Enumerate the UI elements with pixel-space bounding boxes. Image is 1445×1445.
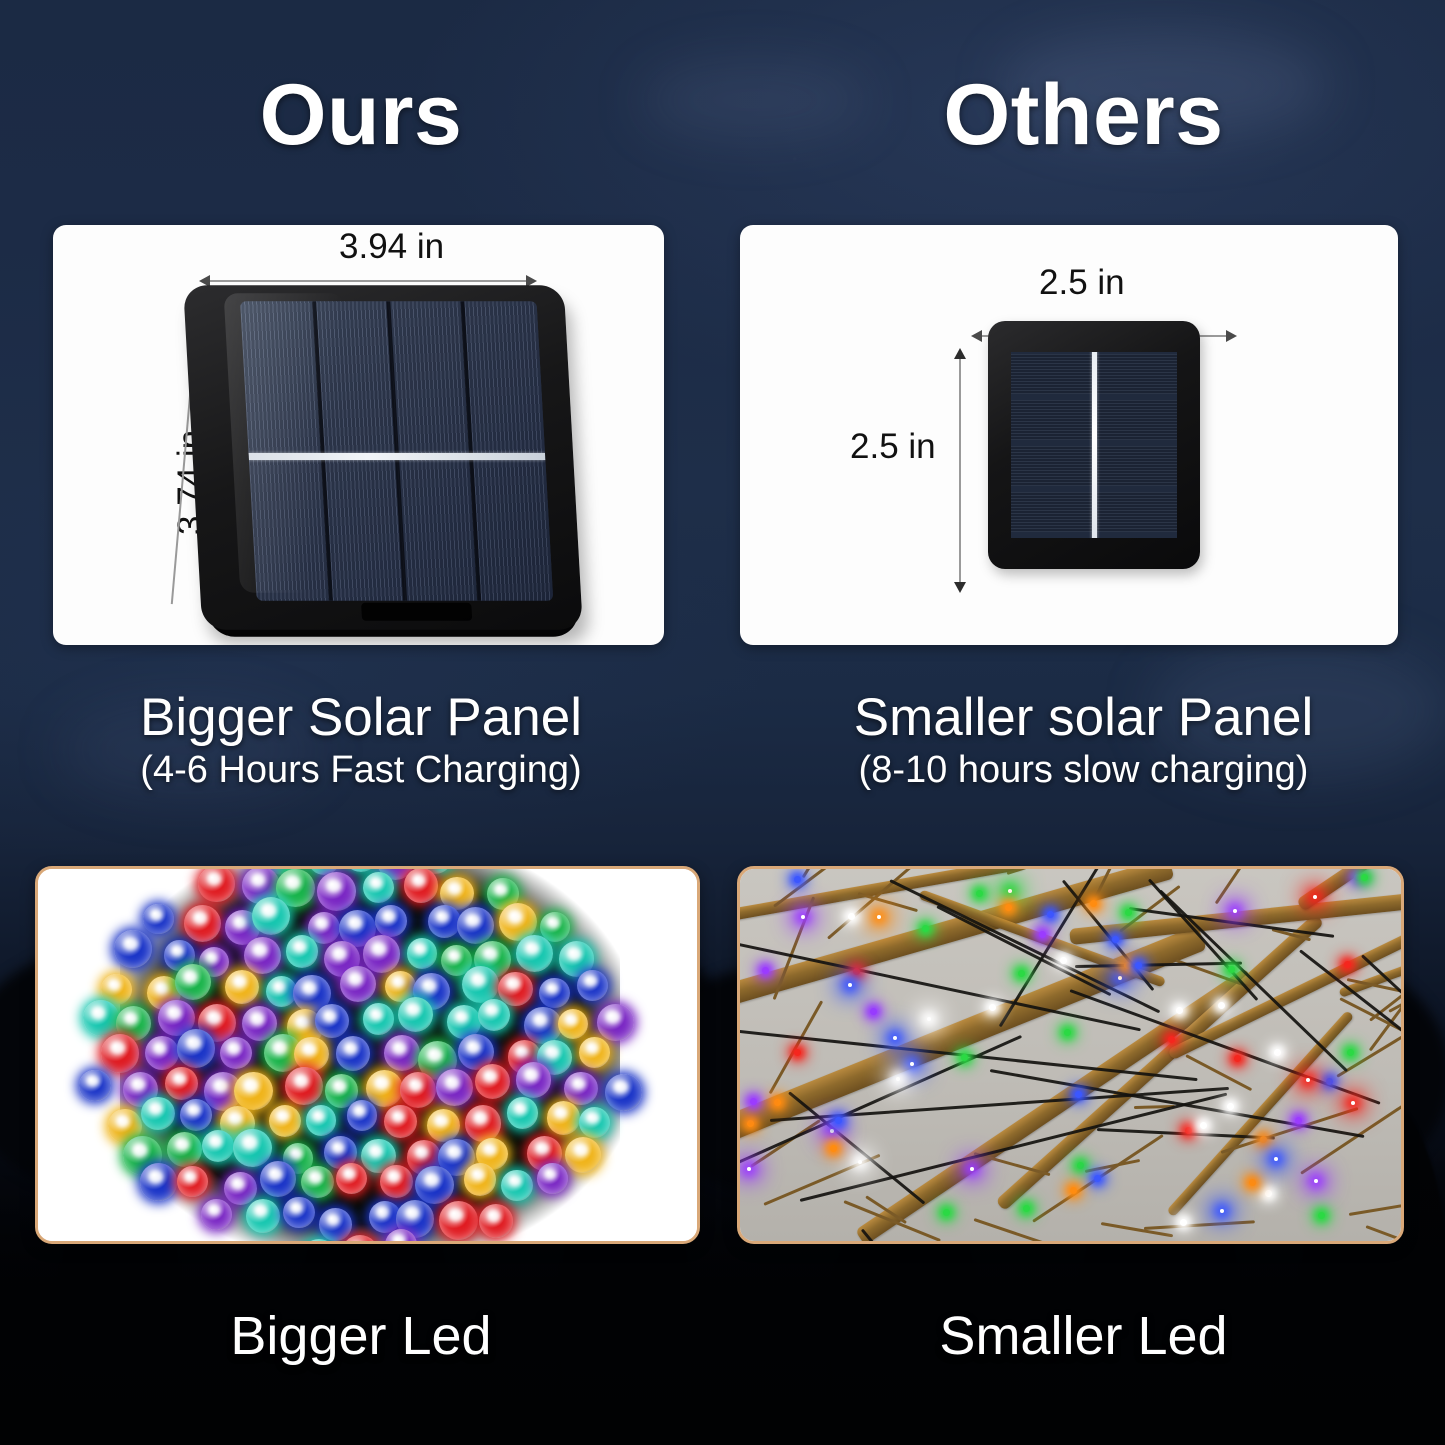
led-point-light: [747, 1167, 751, 1171]
led-bulb: [537, 1163, 568, 1194]
led-bulb: [347, 1100, 378, 1131]
led-bulb: [380, 1165, 413, 1198]
led-bulb: [366, 1070, 403, 1107]
ours-led-photo-card: [35, 866, 700, 1244]
led-bulb: [294, 1037, 329, 1072]
led-bulb: [340, 966, 376, 1002]
led-point-light: [1274, 1157, 1278, 1161]
ours-width-arrow-line: [208, 280, 528, 282]
led-point-light: [943, 1209, 950, 1216]
others-photovoltaic-cells: [1011, 352, 1177, 538]
led-point-light: [1180, 1219, 1187, 1226]
led-point-light: [1354, 874, 1361, 881]
led-point-light: [794, 1049, 801, 1056]
others-led-photo-card: [737, 866, 1404, 1244]
led-bulb: [141, 1097, 174, 1130]
others-height-arrow-bottom-tip: [954, 582, 966, 593]
led-bulb: [524, 1007, 561, 1044]
led-bulb: [579, 1037, 610, 1068]
others-led-caption: Smaller Led: [722, 1305, 1445, 1367]
led-point-light: [1168, 1036, 1175, 1043]
led-bulb: [539, 978, 569, 1008]
tree-twig: [1348, 1195, 1401, 1216]
led-point-light: [1005, 904, 1012, 911]
led-point-light: [801, 915, 805, 919]
tree-twig: [1144, 1221, 1255, 1231]
led-bulb: [464, 1163, 496, 1195]
ours-solar-panel-image: [183, 285, 583, 629]
tree-twig: [1101, 1222, 1173, 1237]
ours-solar-panel-card: 3.94 in 3.74 in: [53, 225, 664, 645]
led-point-light: [794, 876, 801, 883]
led-point-light: [989, 1004, 996, 1011]
led-point-light: [1064, 1029, 1071, 1036]
tree-twig: [1366, 1225, 1401, 1241]
others-solar-panel-image: [988, 321, 1200, 569]
others-solar-panel-card: 2.5 in 2.5 in: [740, 225, 1398, 645]
led-point-light: [910, 1062, 914, 1066]
led-point-light: [1314, 1179, 1318, 1183]
led-point-light: [1260, 1136, 1267, 1143]
tree-twig: [764, 1154, 881, 1206]
led-point-light: [1218, 1002, 1225, 1009]
led-bulb: [180, 1099, 212, 1131]
ours-width-dimension-label: 3.94 in: [339, 227, 444, 267]
led-bulb: [407, 938, 437, 968]
tree-branch: [1069, 891, 1401, 945]
led-point-light: [1023, 1205, 1030, 1212]
led-bulb: [286, 935, 319, 968]
led-point-light: [848, 913, 855, 920]
led-bulb: [79, 1070, 111, 1102]
ours-solar-panel-caption: Bigger Solar Panel (4-6 Hours Fast Charg…: [0, 690, 722, 791]
led-bulb: [177, 1166, 208, 1197]
led-bulb: [363, 1003, 395, 1035]
led-point-light: [1351, 1101, 1355, 1105]
led-point-light: [1077, 1162, 1084, 1169]
led-bulb: [336, 1163, 367, 1194]
led-bulb: [436, 1069, 473, 1106]
led-point-light: [1112, 936, 1119, 943]
led-bulb: [233, 1129, 271, 1167]
led-bulb: [306, 1105, 336, 1135]
column-title-others: Others: [722, 72, 1445, 158]
others-width-arrow-left-tip: [971, 330, 982, 342]
led-bulb: [246, 1199, 280, 1233]
led-bulb: [336, 1036, 371, 1071]
led-bulb: [224, 1172, 257, 1205]
led-bulb: [516, 935, 553, 972]
led-point-light: [1220, 1209, 1224, 1213]
led-bulb: [439, 1201, 478, 1240]
led-point-light: [1124, 962, 1131, 969]
others-caption-main: Smaller solar Panel: [722, 690, 1445, 745]
others-height-arrow-line: [959, 357, 961, 585]
led-bulb: [184, 905, 222, 943]
led-bulb: [516, 1062, 551, 1097]
led-point-light: [927, 1017, 931, 1021]
led-point-light: [1008, 889, 1012, 893]
led-bulb: [167, 1132, 202, 1167]
led-point-light: [1047, 911, 1054, 918]
led-bulb: [415, 1166, 453, 1204]
led-point-light: [877, 915, 881, 919]
led-bulb: [558, 1009, 588, 1039]
led-bulb: [140, 1163, 178, 1201]
led-bulb: [319, 1208, 352, 1241]
led-point-light: [1094, 1175, 1101, 1182]
led-point-light: [1361, 874, 1368, 881]
led-bulb: [384, 1035, 420, 1071]
led-point-light: [1039, 931, 1046, 938]
ours-led-bulb-cluster-photo: [38, 869, 697, 1241]
led-bulb: [177, 1029, 215, 1067]
led-bulb: [547, 1101, 581, 1135]
led-point-light: [1090, 900, 1097, 907]
others-height-dimension-label: 2.5 in: [850, 427, 936, 467]
led-point-light: [1185, 1127, 1192, 1134]
led-bulb: [375, 905, 407, 937]
led-bulb: [252, 897, 290, 935]
ours-caption-sub: (4-6 Hours Fast Charging): [0, 751, 722, 791]
led-bulb: [283, 1197, 315, 1229]
led-bulb: [165, 1067, 198, 1100]
others-solar-panel-caption: Smaller solar Panel (8-10 hours slow cha…: [722, 690, 1445, 791]
led-point-light: [835, 1117, 842, 1124]
led-bulb: [465, 1105, 502, 1142]
led-bulb: [404, 869, 439, 903]
led-bulb: [384, 1105, 417, 1138]
led-point-light: [1060, 957, 1067, 964]
tree-twig: [1185, 1054, 1252, 1091]
led-point-light: [1125, 909, 1132, 916]
led-point-light: [1234, 1055, 1241, 1062]
led-bulb: [202, 1130, 234, 1162]
led-point-light: [747, 1120, 754, 1127]
led-bulb: [507, 1097, 538, 1128]
others-height-arrow-top-tip: [954, 348, 966, 359]
led-bulb: [597, 1004, 634, 1041]
led-point-light: [893, 1036, 897, 1040]
led-bulb: [225, 970, 259, 1004]
led-bulb: [143, 904, 173, 934]
led-point-light: [1176, 1007, 1183, 1014]
led-point-light: [1227, 1103, 1234, 1110]
led-bulb: [398, 997, 433, 1032]
led-point-light: [848, 983, 852, 987]
ours-caption-main: Bigger Solar Panel: [0, 690, 722, 745]
led-bulb: [269, 1105, 301, 1137]
others-busbar: [1092, 352, 1097, 538]
led-point-light: [1070, 1187, 1077, 1194]
others-width-arrow-right-tip: [1226, 330, 1237, 342]
ours-led-caption: Bigger Led: [0, 1305, 722, 1367]
led-bulb: [234, 1072, 272, 1110]
others-width-dimension-label: 2.5 in: [1039, 263, 1125, 303]
tree-twig: [1215, 869, 1280, 905]
led-bulb: [83, 1000, 119, 1036]
led-point-light: [830, 1129, 834, 1133]
led-point-light: [1265, 1190, 1272, 1197]
led-point-light: [896, 1077, 900, 1081]
led-bulb: [260, 1161, 296, 1197]
led-bulb: [317, 872, 356, 911]
led-point-light: [1135, 962, 1142, 969]
led-point-light: [1347, 1049, 1354, 1056]
led-point-light: [1249, 1179, 1256, 1186]
others-caption-sub: (8-10 hours slow charging): [722, 751, 1445, 791]
led-bulb: [498, 972, 532, 1006]
led-point-light: [976, 890, 983, 897]
led-point-light: [830, 1145, 837, 1152]
others-led-branches-photo: [740, 869, 1401, 1241]
led-point-light: [853, 968, 860, 975]
led-bulb: [285, 1067, 323, 1105]
led-bulb: [315, 1004, 349, 1038]
tree-twig: [1006, 869, 1060, 875]
led-bulb: [175, 964, 211, 1000]
led-point-light: [922, 925, 929, 932]
tree-twig: [1300, 1104, 1401, 1174]
led-point-light: [1018, 970, 1025, 977]
led-point-light: [1318, 1212, 1325, 1219]
led-bulb: [564, 1072, 597, 1105]
led-bulb: [605, 1074, 642, 1111]
comparison-infographic: Ours Others 3.94 in 3.74 in: [0, 0, 1445, 1445]
led-point-light: [1295, 1117, 1302, 1124]
column-title-ours: Ours: [0, 72, 722, 158]
led-point-light: [870, 1008, 877, 1015]
led-point-light: [1274, 1049, 1281, 1056]
led-point-light: [1200, 1122, 1207, 1129]
led-point-light: [858, 1160, 862, 1164]
tree-twig: [973, 1218, 1059, 1241]
